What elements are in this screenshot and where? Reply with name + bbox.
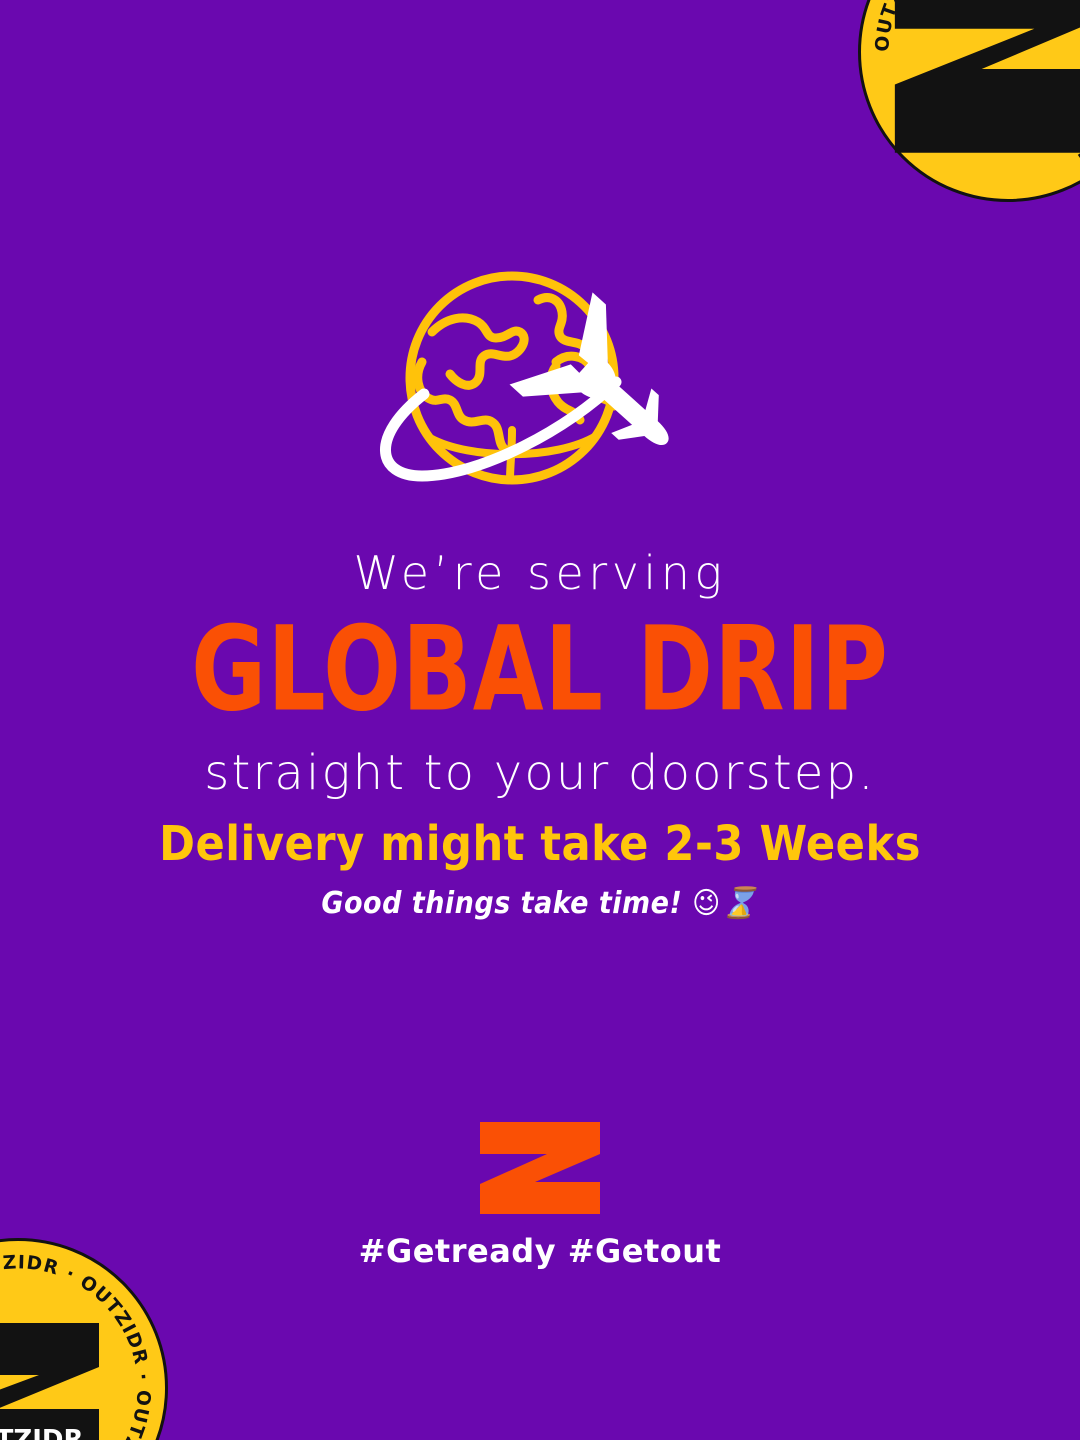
badge-top-right: OUTZIDR · OUTZIDR · OUTZIDR · OUTZIDR · [858, 0, 1080, 202]
footer-hashtags: #Getready #Getout [0, 1232, 1080, 1270]
brand-z-logo [477, 1120, 603, 1216]
badge-z-mark-top-right [861, 0, 1080, 168]
badge-z-mark-bottom-left [0, 1313, 113, 1440]
hero-icon-container [0, 270, 1080, 500]
delivery-reassurance: Good things take time! 😉⌛ [0, 887, 1080, 920]
headline-block: We’re serving GLOBAL DRIP straight to yo… [0, 548, 1080, 799]
poster-canvas: OUTZIDR · OUTZIDR · OUTZIDR · OUTZIDR · … [0, 0, 1080, 1440]
headline-eyebrow: We’re serving [0, 548, 1080, 599]
page-title: GLOBAL DRIP [0, 610, 1080, 727]
globe-airplane-icon [360, 270, 720, 500]
airplane-icon [510, 292, 709, 489]
footer-block: #Getready #Getout [0, 1120, 1080, 1270]
badge-wordmark-bottom-left: OUTZIDR [0, 1423, 92, 1440]
delivery-notice: Delivery might take 2-3 Weeks [0, 818, 1080, 871]
headline-subtitle: straight to your doorstep. [0, 747, 1080, 800]
delivery-block: Delivery might take 2-3 Weeks Good thing… [0, 818, 1080, 920]
